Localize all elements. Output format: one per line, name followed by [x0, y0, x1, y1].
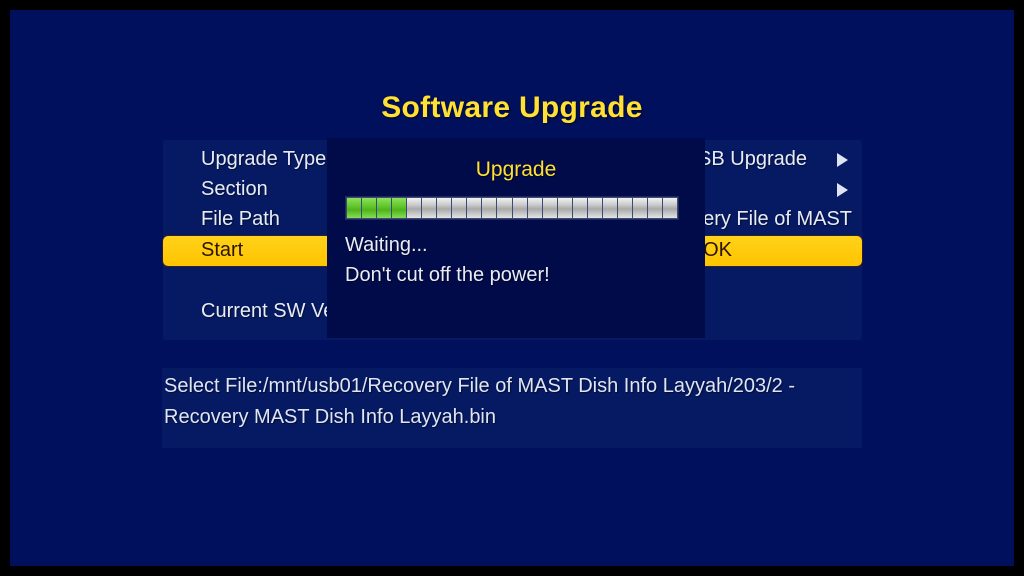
- progress-segment: [362, 198, 376, 218]
- progress-segment: [497, 198, 511, 218]
- progress-segment: [482, 198, 496, 218]
- page-title: Software Upgrade: [0, 91, 1024, 125]
- letterbox-bar-left: [0, 0, 10, 576]
- dialog-warning-power: Don't cut off the power!: [345, 264, 550, 287]
- menu-label-upgrade-type: Upgrade Type: [201, 148, 326, 171]
- progress-segment: [543, 198, 557, 218]
- right-arrow-icon: [837, 153, 848, 167]
- progress-segment: [528, 198, 542, 218]
- progress-segment: [467, 198, 481, 218]
- letterbox-bar-right: [1014, 0, 1024, 576]
- dialog-title: Upgrade: [327, 158, 705, 182]
- progress-segment: [663, 198, 677, 218]
- progress-segment: [347, 198, 361, 218]
- menu-value-start-ok: OK: [703, 239, 732, 262]
- selected-file-path-text: Select File:/mnt/usb01/Recovery File of …: [162, 371, 862, 433]
- upgrade-progress-bar: [345, 196, 679, 220]
- progress-segment: [558, 198, 572, 218]
- progress-segment: [573, 198, 587, 218]
- menu-label-file-path: File Path: [201, 208, 280, 231]
- progress-segment: [513, 198, 527, 218]
- progress-segment: [648, 198, 662, 218]
- menu-label-section: Section: [201, 178, 268, 201]
- progress-segment: [407, 198, 421, 218]
- letterbox-bar-bottom: [0, 566, 1024, 576]
- progress-segment: [603, 198, 617, 218]
- letterbox-bar-top: [0, 0, 1024, 10]
- status-panel: Select File:/mnt/usb01/Recovery File of …: [162, 368, 862, 448]
- progress-segment: [618, 198, 632, 218]
- progress-segment: [437, 198, 451, 218]
- upgrade-progress-dialog: Upgrade Waiting... Don't cut off the pow…: [327, 138, 705, 338]
- progress-segment: [392, 198, 406, 218]
- progress-segment: [422, 198, 436, 218]
- tv-settop-box-screen: Software Upgrade Upgrade Type USB Upgrad…: [0, 0, 1024, 576]
- progress-segment: [588, 198, 602, 218]
- menu-label-start: Start: [201, 239, 243, 262]
- dialog-status-waiting: Waiting...: [345, 234, 428, 257]
- progress-segment: [633, 198, 647, 218]
- right-arrow-icon: [837, 183, 848, 197]
- progress-segment: [452, 198, 466, 218]
- progress-segment: [377, 198, 391, 218]
